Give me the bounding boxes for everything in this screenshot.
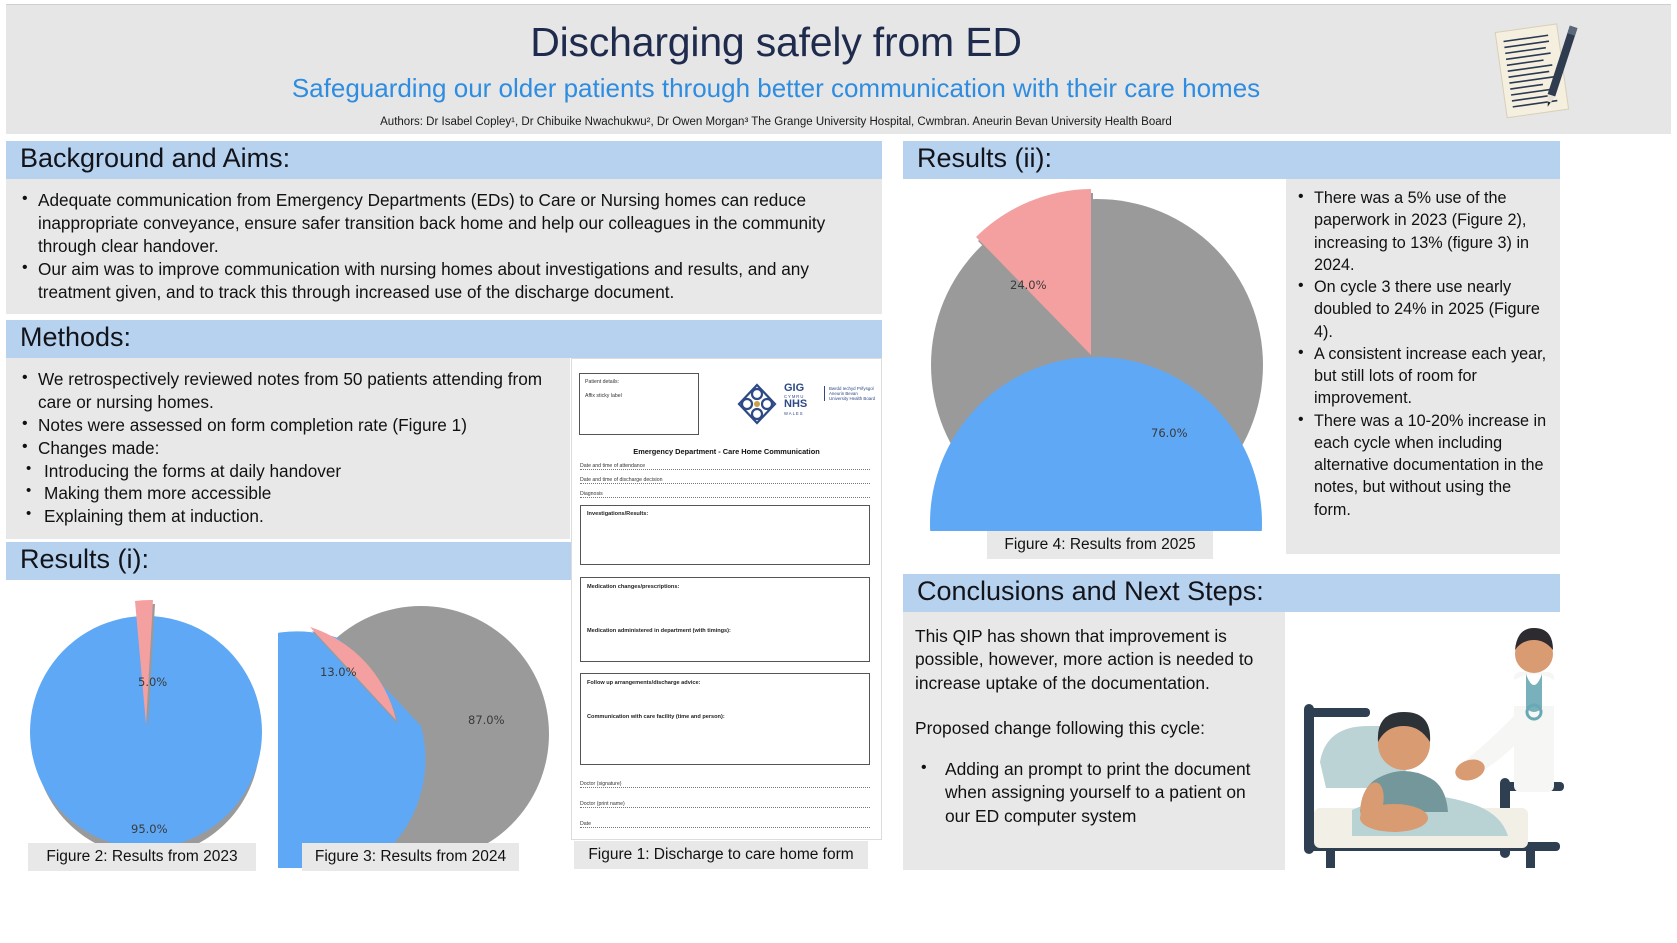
pie-slice-label: 24.0% — [1010, 278, 1047, 292]
logo-wales: WALES — [784, 411, 807, 416]
background-bullet-list: Adequate communication from Emergency De… — [16, 189, 868, 303]
logo-nhs: NHS — [784, 399, 807, 411]
list-item: There was a 10-20% increase in each cycl… — [1292, 410, 1552, 521]
pie-chart-figure-4: 24.0% 76.0% — [903, 185, 1286, 531]
discharge-form-image: Patient details: Affix sticky label GIG … — [571, 358, 882, 840]
pie-slice-label: 13.0% — [320, 665, 357, 679]
figure-caption-3: Figure 3: Results from 2024 — [302, 843, 519, 871]
section-body-results-ii: There was a 5% use of the paperwork in 2… — [1286, 179, 1560, 554]
list-item: Changes made: — [16, 437, 562, 460]
form-sig-print: Doctor (print name) — [580, 801, 870, 808]
pie-slice-label: 87.0% — [468, 713, 505, 727]
form-box-followup: Follow up arrangements/discharge advice:… — [580, 673, 870, 765]
figure-caption-4: Figure 4: Results from 2025 — [987, 531, 1213, 559]
section-heading-conclusions: Conclusions and Next Steps: — [903, 574, 1560, 612]
poster-header: Discharging safely from ED Safeguarding … — [6, 4, 1671, 134]
pie-slice-label: 5.0% — [138, 675, 167, 689]
pie-slice-label: 95.0% — [131, 822, 168, 836]
list-item: Adequate communication from Emergency De… — [16, 189, 868, 258]
form-patient-details-box: Patient details: Affix sticky label — [579, 373, 699, 435]
list-item: Our aim was to improve communication wit… — [16, 258, 868, 304]
form-line-discharge: Date and time of discharge decision — [580, 477, 870, 484]
pie-chart-figure-3: 13.0% 87.0% — [278, 586, 558, 868]
conclusions-paragraph-1: This QIP has shown that improvement is p… — [915, 625, 1273, 695]
notepad-pen-icon — [1483, 21, 1593, 121]
page-title: Discharging safely from ED — [6, 19, 1546, 66]
section-body-methods: We retrospectively reviewed notes from 5… — [6, 358, 570, 539]
nhs-wales-logo-icon — [732, 381, 782, 427]
conclusions-paragraph-2: Proposed change following this cycle: — [915, 717, 1273, 740]
list-item: Making them more accessible — [16, 482, 562, 505]
section-body-conclusions: This QIP has shown that improvement is p… — [903, 612, 1285, 870]
list-item: Notes were assessed on form completion r… — [16, 414, 562, 437]
list-item: There was a 5% use of the paperwork in 2… — [1292, 187, 1552, 276]
conclusions-bullet-list: Adding an prompt to print the document w… — [915, 758, 1273, 827]
form-box-medication: Medication changes/prescriptions: Medica… — [580, 577, 870, 662]
section-heading-background: Background and Aims: — [6, 141, 882, 179]
form-affix-label: Affix sticky label — [580, 385, 698, 399]
form-logo-text: GIG CYMRU NHS WALES — [784, 383, 807, 416]
authors-line: Authors: Dr Isabel Copley¹, Dr Chibuike … — [6, 116, 1546, 128]
list-item: Explaining them at induction. — [16, 505, 562, 528]
form-label-medadmin: Medication administered in department (w… — [581, 590, 869, 634]
form-label-followup: Follow up arrangements/discharge advice: — [581, 674, 869, 686]
form-patient-details-label: Patient details: — [580, 374, 698, 385]
list-item: We retrospectively reviewed notes from 5… — [16, 368, 562, 414]
section-heading-methods: Methods: — [6, 320, 882, 358]
form-box-investigations: Investigations/Results: — [580, 505, 870, 565]
pie-chart-figure-2: 5.0% 95.0% — [14, 588, 284, 868]
results-ii-bullet-list: There was a 5% use of the paperwork in 2… — [1292, 187, 1552, 521]
list-item: Introducing the forms at daily handover — [16, 460, 562, 483]
poster-root: Discharging safely from ED Safeguarding … — [0, 0, 1677, 943]
logo-gig: GIG — [784, 383, 807, 394]
form-label-investigations: Investigations/Results: — [581, 506, 869, 517]
form-sig-date: Date — [580, 821, 870, 828]
form-sig-doctor: Doctor (signature) — [580, 781, 870, 788]
figure-caption-2: Figure 2: Results from 2023 — [28, 843, 256, 871]
doctor-patient-bed-illustration — [1286, 612, 1572, 870]
form-label-medchanges: Medication changes/prescriptions: — [581, 578, 869, 590]
list-item: On cycle 3 there use nearly doubled to 2… — [1292, 276, 1552, 343]
form-line-diagnosis: Diagnosis — [580, 491, 870, 498]
hb-line3: University Health Board — [829, 396, 875, 401]
list-item: A consistent increase each year, but sti… — [1292, 343, 1552, 410]
section-heading-results-ii: Results (ii): — [903, 141, 1560, 179]
form-title: Emergency Department - Care Home Communi… — [572, 447, 881, 456]
section-body-background: Adequate communication from Emergency De… — [6, 179, 882, 314]
methods-sub-bullet-list: Introducing the forms at daily handover … — [16, 460, 562, 529]
results-ii-chart: 24.0% 76.0% — [903, 179, 1286, 568]
list-item: Adding an prompt to print the document w… — [915, 758, 1273, 827]
page-subtitle: Safeguarding our older patients through … — [6, 73, 1546, 104]
methods-bullet-list: We retrospectively reviewed notes from 5… — [16, 368, 562, 460]
form-line-attendance: Date and time of attendance — [580, 463, 870, 470]
form-label-communication: Communication with care facility (time a… — [581, 686, 869, 720]
figure-caption-1: Figure 1: Discharge to care home form — [574, 841, 868, 869]
pie-slice-label: 76.0% — [1151, 426, 1188, 440]
form-healthboard-text: Bwrdd Iechyd Prifysgol Aneurin Bevan Uni… — [824, 386, 875, 401]
